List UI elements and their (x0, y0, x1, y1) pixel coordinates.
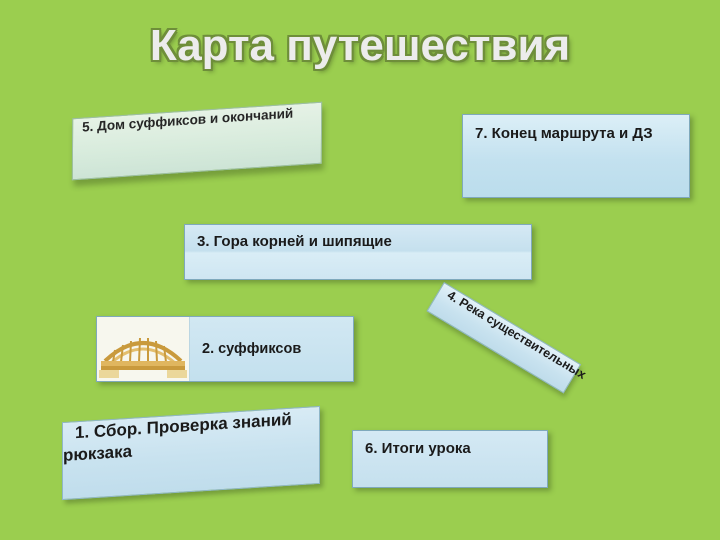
bridge-icon (97, 317, 189, 381)
diagram-node-5[interactable]: 5. Дом суффиксов и окончаний (72, 110, 328, 194)
node-5-body[interactable]: 5. Дом суффиксов и окончаний (72, 102, 322, 181)
node-3-label: 3. Гора корней и шипящие (185, 225, 531, 260)
node-4-body[interactable]: 4. Река существительных (426, 282, 581, 394)
node-5-label: 5. Дом суффиксов и окончаний (73, 99, 302, 141)
diagram-node-7[interactable]: 7. Конец маршрута и ДЗ (462, 114, 690, 198)
diagram-node-6[interactable]: 6. Итоги урока (352, 430, 548, 488)
slide-canvas: Карта путешествия 5. Дом суффиксов и око… (0, 0, 720, 540)
node-4-label: 4. Река существительных (433, 277, 600, 394)
node-1-label: 1. Сбор. Проверка знаний рюкзака (63, 401, 292, 474)
node-2-label: 2. суффиксов (190, 317, 301, 381)
node-1-body[interactable]: 1. Сбор. Проверка знаний рюкзака (62, 406, 320, 500)
node-7-label: 7. Конец маршрута и ДЗ (463, 115, 689, 154)
page-title: Карта путешествия (60, 22, 660, 70)
diagram-node-3[interactable]: 3. Гора корней и шипящие (184, 224, 532, 280)
diagram-node-4[interactable]: 4. Река существительных (444, 276, 614, 406)
diagram-node-2[interactable]: 2. суффиксов (96, 316, 354, 382)
diagram-node-1[interactable]: 1. Сбор. Проверка знаний рюкзака (62, 414, 332, 514)
wooden-bridge-image (97, 317, 190, 381)
node-6-label: 6. Итоги урока (353, 431, 547, 468)
